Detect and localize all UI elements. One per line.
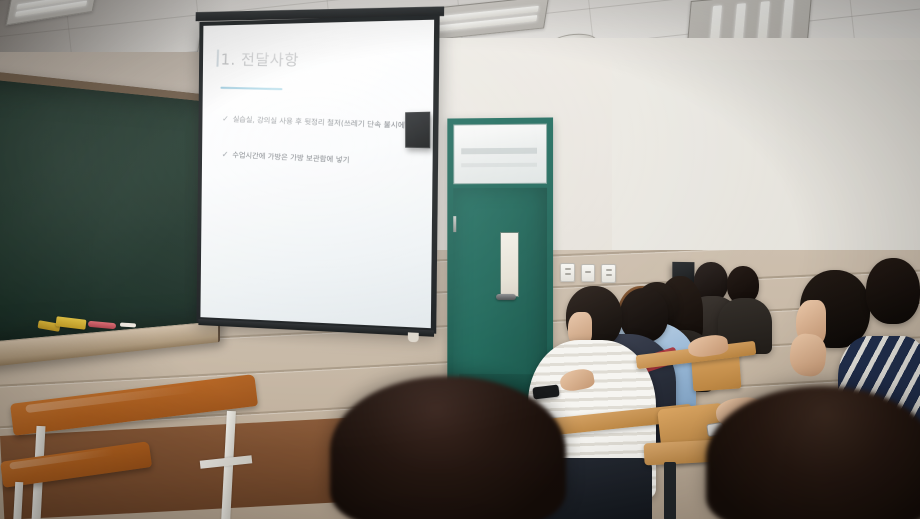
wall-speaker-left-icon	[405, 112, 430, 149]
projected-slide: 1. 전달사항 ✓실습실, 강의실 사용 후 뒷정리 철저(쓰레기 단속 불시에…	[200, 20, 434, 328]
desk-frame-2	[664, 462, 676, 519]
wall-outlet-2-icon[interactable]	[581, 264, 595, 282]
door-handle-icon[interactable]	[496, 294, 516, 300]
chalkboard-surface	[0, 76, 214, 345]
slide-title: 1. 전달사항	[220, 48, 299, 70]
projection-screen: 1. 전달사항 ✓실습실, 강의실 사용 후 뒷정리 철저(쓰레기 단속 불시에…	[196, 15, 439, 333]
wall-outlet-1-icon[interactable]	[560, 263, 575, 282]
classroom-photo: 1. 전달사항 ✓실습실, 강의실 사용 후 뒷정리 철저(쓰레기 단속 불시에…	[0, 0, 920, 519]
slide-accent-rule	[220, 87, 282, 90]
door-vision-panel	[500, 232, 519, 297]
check-icon-2: ✓	[222, 150, 229, 159]
slide-bullet-2-text: 수업시간에 가방은 가방 보관함에 넣기	[232, 150, 350, 165]
slide-title-accent-bar	[216, 50, 219, 67]
slide-bullet-1: ✓실습실, 강의실 사용 후 뒷정리 철저(쓰레기 단속 불시에 하기)	[222, 114, 425, 132]
screen-pull-knob	[408, 332, 419, 342]
slide-bullet-1-text: 실습실, 강의실 사용 후 뒷정리 철저(쓰레기 단속 불시에 하기)	[233, 115, 426, 131]
slide-bullet-2: ✓수업시간에 가방은 가방 보관함에 넣기	[222, 150, 350, 166]
check-icon: ✓	[222, 114, 229, 123]
empty-desk-second	[0, 452, 140, 519]
door-transom-window	[453, 124, 547, 185]
wall-outlet-3-icon[interactable]	[601, 264, 616, 283]
door-hinge-icon	[453, 216, 456, 232]
wristwatch-icon	[706, 422, 725, 437]
desk-frame-1	[547, 440, 559, 496]
